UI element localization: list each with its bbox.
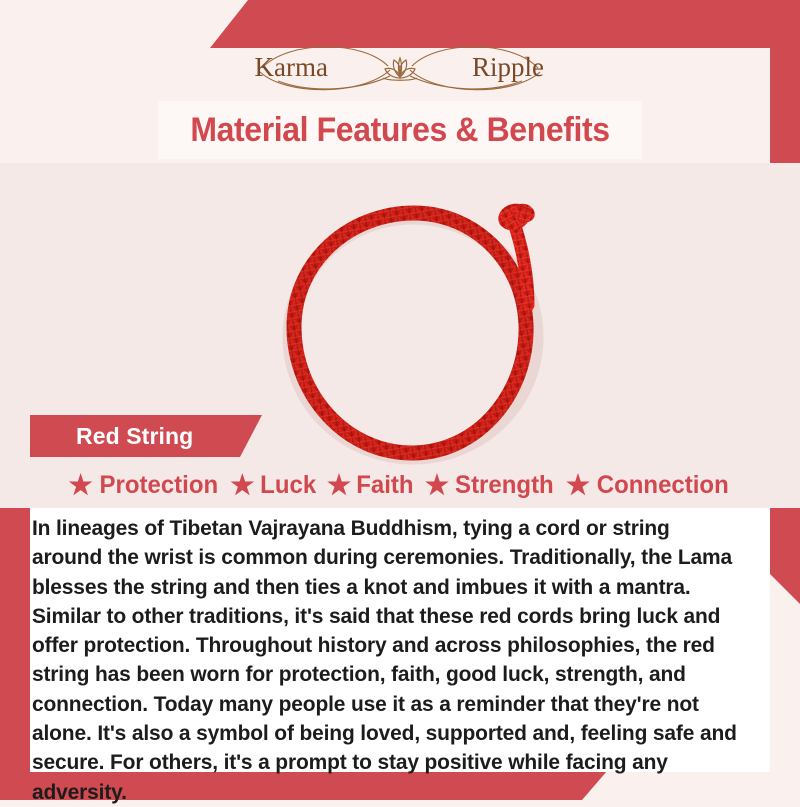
star-icon: ★	[230, 472, 254, 499]
benefit-item-faith: ★ Faith	[327, 471, 415, 500]
brand-logo-graphic: Karma Ripple	[250, 38, 550, 96]
benefit-item-strength: ★ Strength	[425, 471, 556, 500]
product-image-red-string-bracelet	[246, 165, 576, 495]
brand-name-karma: Karma	[255, 52, 328, 82]
ribbon-label: Red String	[30, 423, 193, 450]
star-icon: ★	[425, 472, 449, 499]
brand-logo: Karma Ripple	[0, 36, 800, 98]
cord-knot	[495, 200, 538, 235]
infographic-page: Karma Ripple Material Features & Benefit…	[0, 0, 800, 800]
benefit-label: Strength	[455, 471, 554, 500]
star-icon: ★	[327, 472, 351, 499]
star-icon: ★	[68, 472, 92, 499]
star-icon: ★	[566, 472, 590, 499]
benefit-item-connection: ★ Connection	[566, 471, 732, 500]
page-title: Material Features & Benefits	[190, 111, 609, 150]
brand-name-ripple: Ripple	[472, 52, 544, 82]
benefit-item-luck: ★ Luck	[230, 471, 317, 500]
benefit-label: Protection	[99, 471, 218, 500]
ribbon-red-string: Red String	[30, 415, 262, 457]
bracelet-graphic	[246, 165, 576, 495]
description-block: In lineages of Tibetan Vajrayana Buddhis…	[30, 508, 770, 772]
benefit-item-protection: ★ Protection	[68, 471, 220, 500]
benefit-label: Luck	[260, 471, 316, 500]
benefit-label: Connection	[597, 471, 729, 500]
benefit-label: Faith	[356, 471, 413, 500]
description-paragraph: In lineages of Tibetan Vajrayana Buddhis…	[30, 514, 744, 807]
title-banner: Material Features & Benefits	[158, 101, 642, 159]
benefits-list: ★ Protection ★ Luck ★ Faith ★ Strength ★…	[30, 465, 770, 505]
